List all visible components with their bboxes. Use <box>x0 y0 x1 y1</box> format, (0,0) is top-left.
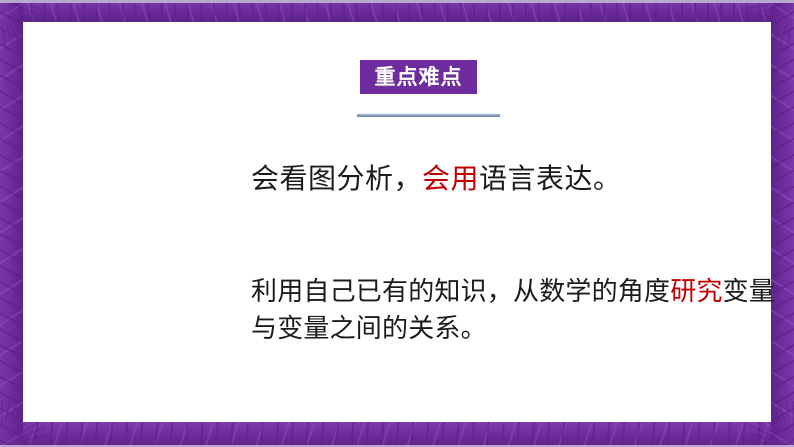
objective-paragraph-two-highlight: 研究 <box>670 277 722 306</box>
objective-paragraph-two-prefix: 利用自己已有的知识，从数学的角度 <box>251 277 670 306</box>
frame-band-bottom <box>0 422 794 447</box>
frame-band-top <box>0 0 794 22</box>
frame-band-left <box>0 0 23 447</box>
objective-line-one: 会看图分析，会用语言表达。 <box>251 160 622 201</box>
section-title-badge: 重点难点 <box>360 60 477 94</box>
frame-hairline-top <box>0 0 794 3</box>
frame-band-right <box>771 0 794 447</box>
content-area: 重点难点 会看图分析，会用语言表达。 利用自己已有的知识，从数学的角度研究变量与… <box>23 22 771 422</box>
objective-line-one-suffix: 语言表达。 <box>479 164 622 195</box>
objective-paragraph-two: 利用自己已有的知识，从数学的角度研究变量与变量之间的关系。 <box>251 274 781 348</box>
title-divider-rule <box>357 113 500 117</box>
section-title-text: 重点难点 <box>375 67 463 88</box>
objective-line-one-highlight: 会用 <box>422 164 479 195</box>
objective-line-one-prefix: 会看图分析， <box>251 164 422 195</box>
slide-canvas: 重点难点 会看图分析，会用语言表达。 利用自己已有的知识，从数学的角度研究变量与… <box>0 0 794 447</box>
